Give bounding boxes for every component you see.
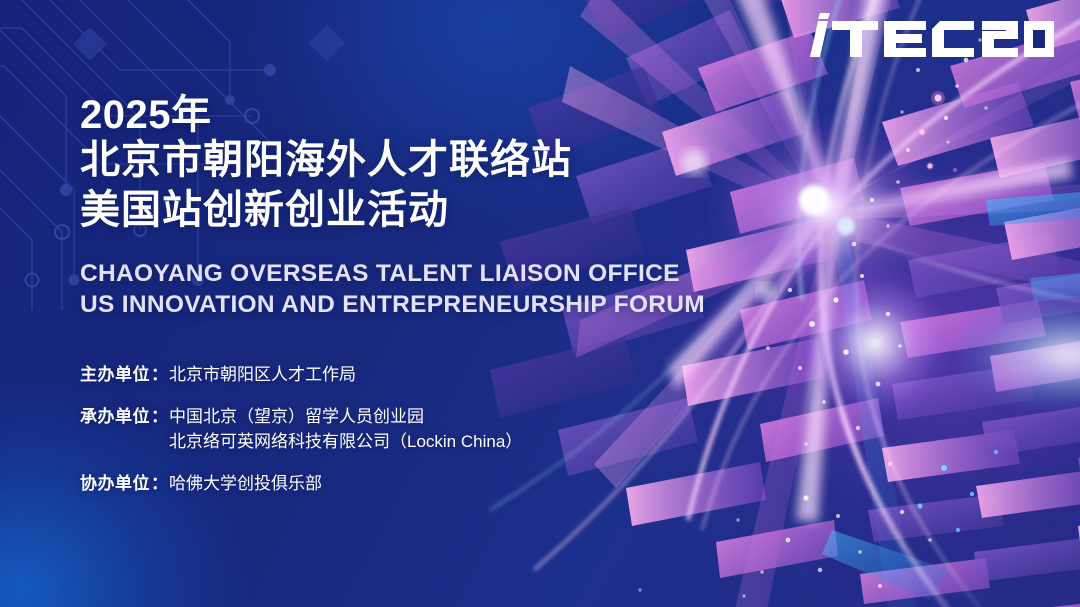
organizer-value: 北京市朝阳区人才工作局 — [169, 362, 356, 388]
poster-text-block: 2025年 北京市朝阳海外人才联络站 美国站创新创业活动 CHAOYANG OV… — [80, 94, 720, 512]
event-year: 2025年 — [80, 94, 720, 136]
organizer-values-coorganizer: 哈佛大学创投俱乐部 — [169, 471, 322, 497]
event-poster: 2025年 北京市朝阳海外人才联络站 美国站创新创业活动 CHAOYANG OV… — [0, 0, 1080, 607]
organizer-values-host: 北京市朝阳区人才工作局 — [169, 362, 356, 388]
organizer-row-host: 主办单位 ： 北京市朝阳区人才工作局 — [80, 362, 720, 388]
subtitle-en-line-2: US INNOVATION AND ENTREPRENEURSHIP FORUM — [80, 289, 720, 320]
organizer-colon-host: ： — [150, 362, 169, 388]
subtitle-en-line-1: CHAOYANG OVERSEAS TALENT LIAISON OFFICE — [80, 258, 720, 289]
organizer-row-coorganizer: 协办单位 ： 哈佛大学创投俱乐部 — [80, 471, 720, 497]
itec-2025-logo[interactable] — [804, 12, 1054, 58]
organizer-value: 北京络可英网络科技有限公司（Lockin China） — [169, 429, 522, 455]
organizer-colon-organizer: ： — [150, 404, 169, 430]
organizer-colon-coorganizer: ： — [150, 471, 169, 497]
organizer-label-host: 主办单位 — [80, 362, 150, 388]
event-title-line-1: 北京市朝阳海外人才联络站 — [80, 136, 720, 186]
organizer-label-coorganizer: 协办单位 — [80, 471, 150, 497]
organizer-value: 中国北京（望京）留学人员创业园 — [169, 404, 522, 430]
event-subtitle-english: CHAOYANG OVERSEAS TALENT LIAISON OFFICE … — [80, 258, 720, 321]
organizer-list: 主办单位 ： 北京市朝阳区人才工作局 承办单位 ： 中国北京（望京）留学人员创业… — [80, 362, 720, 496]
organizer-label-organizer: 承办单位 — [80, 404, 150, 430]
itec-logo-mark — [804, 13, 1054, 57]
organizer-values-organizer: 中国北京（望京）留学人员创业园 北京络可英网络科技有限公司（Lockin Chi… — [169, 404, 522, 455]
organizer-value: 哈佛大学创投俱乐部 — [169, 471, 322, 497]
event-title-line-2: 美国站创新创业活动 — [80, 186, 720, 236]
organizer-row-organizer: 承办单位 ： 中国北京（望京）留学人员创业园 北京络可英网络科技有限公司（Loc… — [80, 404, 720, 455]
